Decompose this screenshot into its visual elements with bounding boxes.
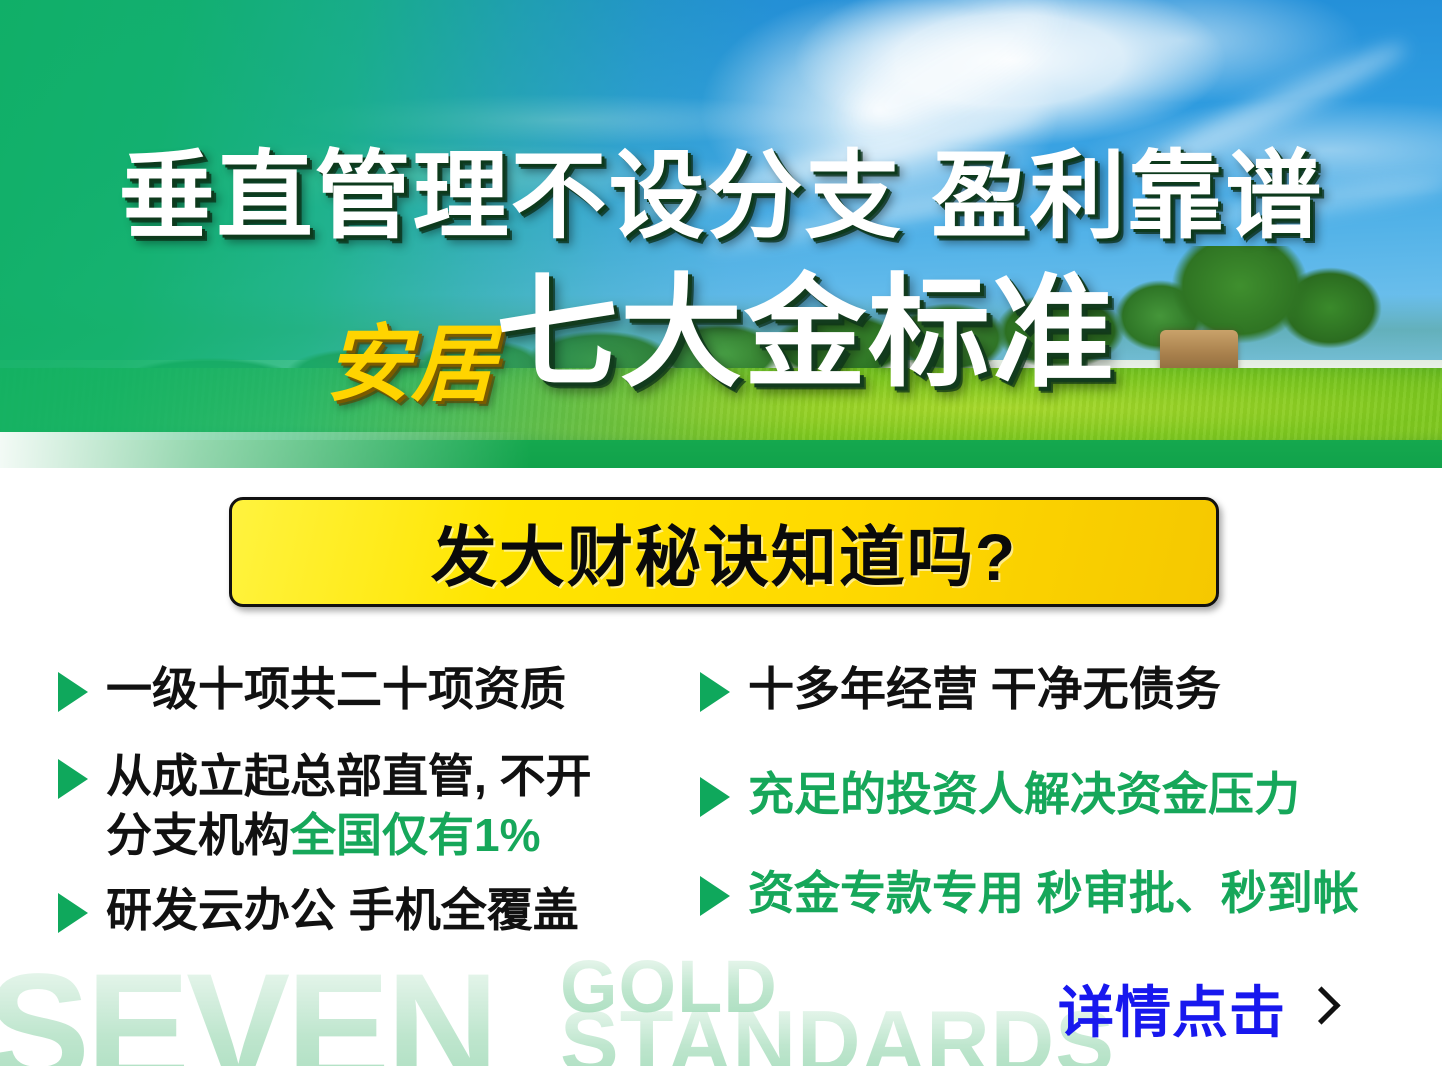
triangle-bullet-icon [58, 672, 88, 712]
hero-subhead-text: 七大金标准 [496, 272, 1116, 394]
feature-item: 资金专款专用 秒审批、秒到帐 [700, 864, 1430, 923]
feature-columns: 一级十项共二十项资质 从成立起总部直管, 不开分支机构全国仅有1% 研发云办公 … [0, 660, 1442, 990]
feature-item: 充足的投资人解决资金压力 [700, 765, 1430, 824]
triangle-bullet-icon [700, 672, 730, 712]
cta-label: 详情点击 [1058, 968, 1286, 1049]
feature-item: 从成立起总部直管, 不开分支机构全国仅有1% [58, 747, 698, 865]
feature-item: 一级十项共二十项资质 [58, 660, 698, 719]
feature-text: 十多年经营 干净无债务 [748, 660, 1221, 719]
yellow-banner-text: 发大财秘诀知道吗? [431, 504, 1017, 600]
feature-item: 十多年经营 干净无债务 [700, 660, 1430, 719]
hero-headline: 垂直管理不设分支 盈利靠谱 [0, 118, 1442, 257]
feature-text: 一级十项共二十项资质 [106, 660, 566, 719]
feature-text: 研发云办公 手机全覆盖 [106, 881, 579, 940]
feature-text: 从成立起总部直管, 不开分支机构全国仅有1% [106, 747, 592, 865]
promo-banner: 垂直管理不设分支 盈利靠谱 安居七大金标准 发大财秘诀知道吗? 一级十项共二十项… [0, 0, 1442, 1066]
yellow-headline-banner[interactable]: 发大财秘诀知道吗? [229, 497, 1219, 607]
feature-column-left: 一级十项共二十项资质 从成立起总部直管, 不开分支机构全国仅有1% 研发云办公 … [58, 660, 698, 962]
hero-subheadline: 安居七大金标准 [0, 272, 1442, 406]
feature-item: 研发云办公 手机全覆盖 [58, 881, 698, 940]
watermark-standards: STANDARDS [560, 1000, 1115, 1066]
feature-text-line2-highlight: 全国仅有1% [290, 809, 540, 861]
hero-brand-text: 安居 [326, 322, 496, 406]
feature-text: 资金专款专用 秒审批、秒到帐 [748, 864, 1359, 923]
feature-text-line1: 从成立起总部直管, 不开 [106, 750, 592, 802]
feature-column-right: 十多年经营 干净无债务 充足的投资人解决资金压力 资金专款专用 秒审批、秒到帐 [700, 660, 1430, 945]
hero-bottom-fade [0, 432, 760, 468]
chevron-right-icon [1302, 986, 1340, 1024]
triangle-bullet-icon [58, 759, 88, 799]
feature-text-line2-black: 分支机构 [106, 809, 290, 861]
feature-text: 充足的投资人解决资金压力 [748, 765, 1300, 824]
hero-section: 垂直管理不设分支 盈利靠谱 安居七大金标准 [0, 0, 1442, 468]
triangle-bullet-icon [58, 893, 88, 933]
details-cta-link[interactable]: 详情点击 [1058, 968, 1335, 1049]
triangle-bullet-icon [700, 876, 730, 916]
triangle-bullet-icon [700, 777, 730, 817]
